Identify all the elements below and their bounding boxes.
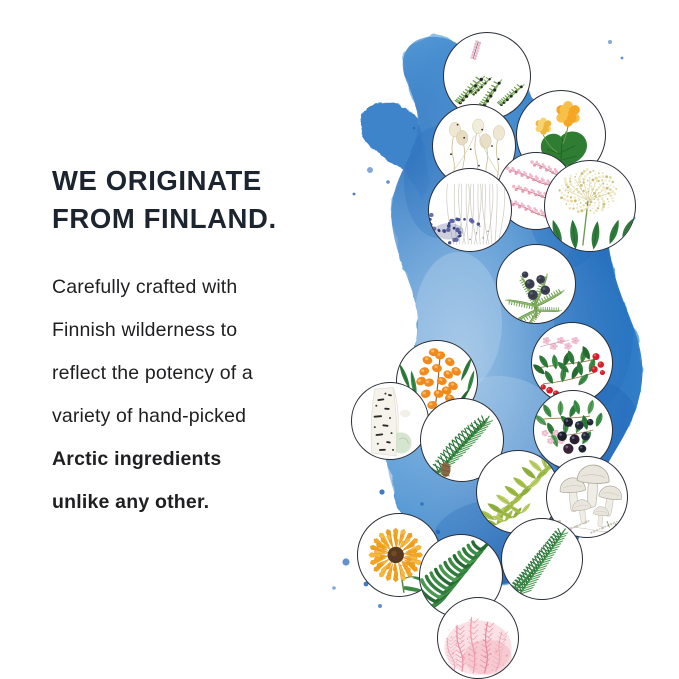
ingredient-circle-pink-seaweed-algae: [437, 597, 519, 679]
ingredient-circle-elderflower: [544, 160, 636, 252]
ink-splatter-dot: [332, 586, 336, 590]
ingredient-circle-birch-bark: [351, 382, 429, 460]
copy-block: WE ORIGINATE FROM FINLAND. Carefully cra…: [52, 162, 352, 524]
ingredient-circle-bilberry-and-grass: [428, 168, 512, 252]
ink-splatter-dot: [436, 530, 440, 534]
ink-splatter-dot: [378, 604, 382, 608]
ink-splatter-dot: [420, 502, 424, 506]
body-line-2: Finnish wilderness to: [52, 309, 352, 352]
ink-splatter-dot: [379, 489, 384, 494]
body-line-6: unlike any other.: [52, 481, 352, 524]
body-line-4: variety of hand-picked: [52, 395, 352, 438]
body-line-1: Carefully crafted with: [52, 266, 352, 309]
body-line-5: Arctic ingredients: [52, 438, 352, 481]
ink-splatter-dot: [367, 167, 373, 173]
ink-splatter-dot: [621, 57, 624, 60]
ingredient-circle-spruce-sprig: [501, 518, 583, 600]
page-title: WE ORIGINATE FROM FINLAND.: [52, 162, 352, 238]
ink-splatter-dot: [353, 193, 356, 196]
ink-splatter-dot: [342, 558, 349, 565]
finland-map: [318, 22, 679, 667]
body-line-3: reflect the potency of a: [52, 352, 352, 395]
ink-splatter-dot: [386, 180, 390, 184]
ink-splatter-dot: [608, 40, 612, 44]
body-copy: Carefully crafted withFinnish wilderness…: [52, 266, 352, 524]
ingredient-circle-juniper-berries: [496, 244, 576, 324]
ink-splatter-dot: [413, 127, 416, 130]
poster-canvas: WE ORIGINATE FROM FINLAND. Carefully cra…: [0, 0, 679, 679]
